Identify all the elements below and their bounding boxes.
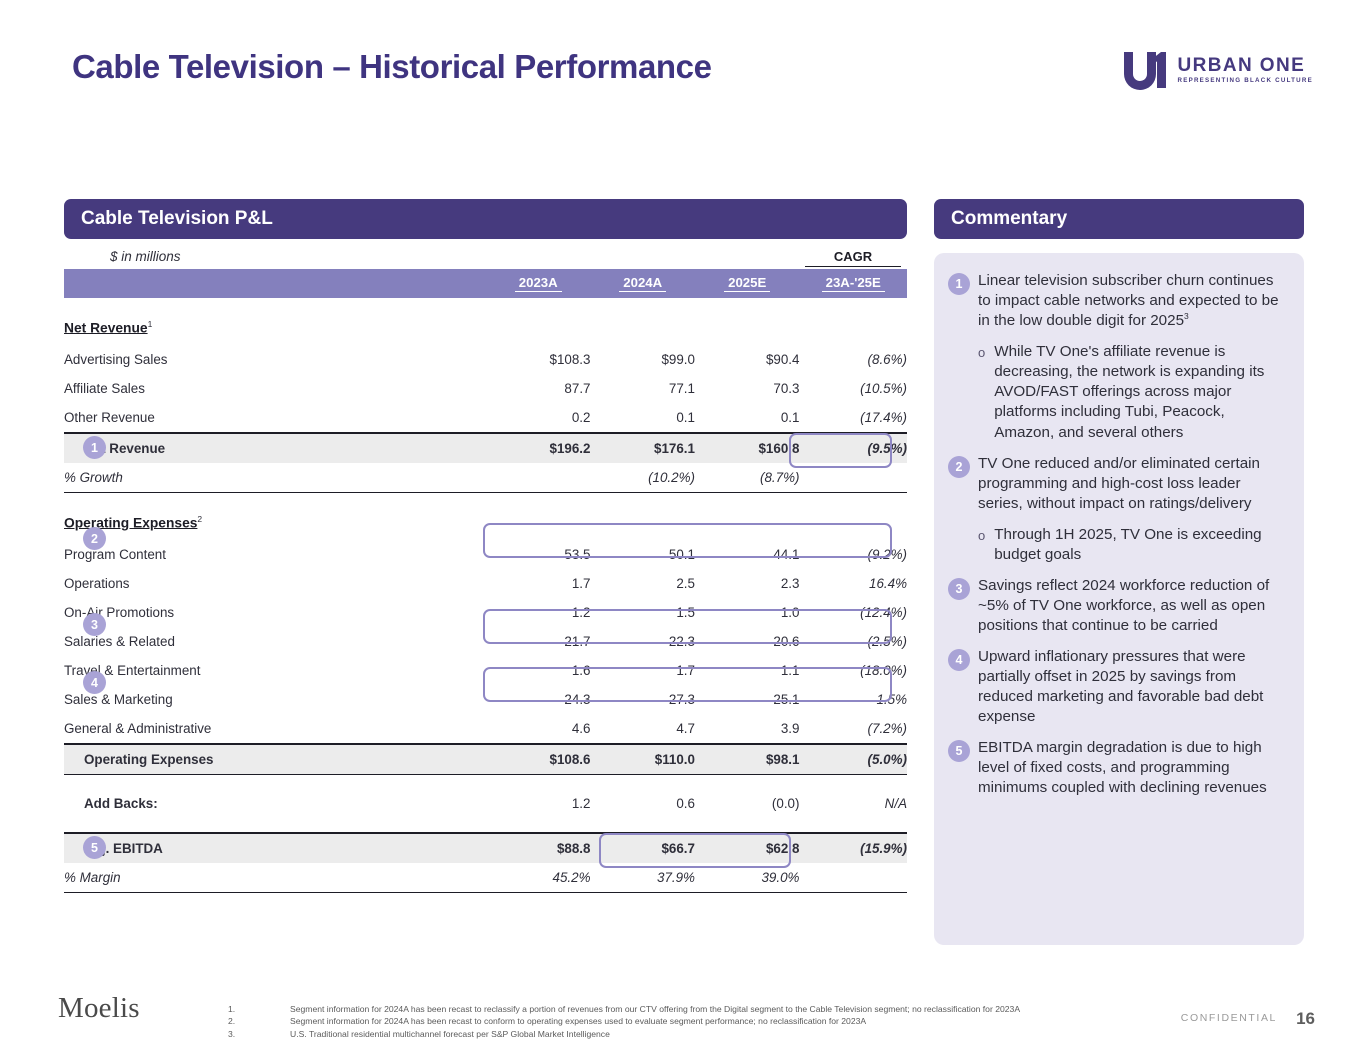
commentary-subtext-1: While TV One's affiliate revenue is decr… — [994, 342, 1287, 442]
header-cagr: 23A-'25E — [799, 269, 907, 298]
row-label-pct-margin: % Margin — [64, 863, 486, 893]
cell-ebitda-2023: $88.8 — [486, 833, 590, 863]
cell-ga-cagr: (7.2%) — [799, 714, 907, 744]
row-label-affiliate-sales: Affiliate Sales — [64, 374, 486, 403]
header-2024a: 2024A — [590, 269, 694, 298]
bullet-circle-icon: o — [978, 345, 985, 442]
cell-operations-2024: 2.5 — [590, 569, 694, 598]
cell-onair-2025: 1.0 — [695, 598, 799, 627]
cell-salesmkt-2025: 25.1 — [695, 685, 799, 714]
table-row-add-backs: Add Backs: 1.2 0.6 (0.0) N/A — [64, 789, 907, 818]
cell-program-2023: 53.5 — [486, 540, 590, 569]
table-row: Operations 1.7 2.5 2.3 16.4% — [64, 569, 907, 598]
table-row: Affiliate Sales 87.7 77.1 70.3 (10.5%) — [64, 374, 907, 403]
row-label-general-administrative: General & Administrative — [64, 714, 486, 744]
cell-growth-2023 — [486, 463, 590, 493]
cell-affiliate-2025: 70.3 — [695, 374, 799, 403]
commentary-badge-1: 1 — [948, 273, 970, 295]
cell-salesmkt-cagr: 1.5% — [799, 685, 907, 714]
cell-affiliate-2024: 77.1 — [590, 374, 694, 403]
cell-opex-2024: $110.0 — [590, 744, 694, 775]
commentary-item-5: 5 EBITDA margin degradation is due to hi… — [948, 738, 1287, 798]
cell-opex-2023: $108.6 — [486, 744, 590, 775]
cell-salesmkt-2024: 27.3 — [590, 685, 694, 714]
commentary-text-4: Upward inflationary pressures that were … — [978, 647, 1287, 727]
table-row: Other Revenue 0.2 0.1 0.1 (17.4%) — [64, 403, 907, 433]
row-label-operations: Operations — [64, 569, 486, 598]
confidential-label: CONFIDENTIAL — [1181, 1012, 1277, 1024]
callout-badge-5: 5 — [83, 836, 106, 859]
callout-badge-3: 3 — [83, 613, 106, 636]
table-row: Sales & Marketing 24.3 27.3 25.1 1.5% — [64, 685, 907, 714]
footnote-number-1: 1. — [228, 1004, 290, 1015]
row-label-advertising-sales: Advertising Sales — [64, 345, 486, 374]
cell-ebitda-2025: $62.8 — [695, 833, 799, 863]
cell-onair-2024: 1.5 — [590, 598, 694, 627]
footnote-number-3: 3. — [228, 1029, 290, 1040]
cell-margin-cagr — [799, 863, 907, 893]
footnote-row: 2. Segment information for 2024A has bee… — [228, 1016, 1108, 1027]
table-row-pct-margin: % Margin 45.2% 37.9% 39.0% — [64, 863, 907, 893]
units-label: $ in millions — [64, 249, 907, 264]
commentary-subtext-2: Through 1H 2025, TV One is exceeding bud… — [994, 525, 1287, 565]
cell-other-2023: 0.2 — [486, 403, 590, 433]
pl-table: 2023A 2024A 2025E 23A-'25E Net Revenue1 … — [64, 269, 907, 893]
footnote-row: 1. Segment information for 2024A has bee… — [228, 1004, 1108, 1015]
cell-salaries-2023: 21.7 — [486, 627, 590, 656]
commentary-badge-4: 4 — [948, 649, 970, 671]
row-label-salaries-related: Salaries & Related — [64, 627, 486, 656]
moelis-wordmark: Moelis — [58, 992, 140, 1025]
footnote-text-3: U.S. Traditional residential multichanne… — [290, 1029, 610, 1040]
callout-badge-4: 4 — [83, 671, 106, 694]
row-label-add-backs: Add Backs: — [64, 789, 486, 818]
slide-canvas: Cable Television – Historical Performanc… — [0, 0, 1365, 1055]
cell-program-2024: 50.1 — [590, 540, 694, 569]
cell-advertising-cagr: (8.6%) — [799, 345, 907, 374]
row-label-net-revenue-total: Net Revenue — [64, 433, 486, 463]
commentary-panel: 1 Linear television subscriber churn con… — [934, 253, 1304, 945]
commentary-subitem-1: o While TV One's affiliate revenue is de… — [978, 342, 1287, 442]
logo-name: URBAN ONE — [1177, 56, 1313, 75]
commentary-body-1: Linear television subscriber churn conti… — [978, 272, 1279, 329]
table-row: General & Administrative 4.6 4.7 3.9 (7.… — [64, 714, 907, 744]
cell-travel-2023: 1.6 — [486, 656, 590, 685]
cell-addbacks-2024: 0.6 — [590, 789, 694, 818]
cell-netrev-2024: $176.1 — [590, 433, 694, 463]
callout-badge-1: 1 — [83, 436, 106, 459]
table-row-total-operating-expenses: Operating Expenses $108.6 $110.0 $98.1 (… — [64, 744, 907, 775]
table-row: Advertising Sales $108.3 $99.0 $90.4 (8.… — [64, 345, 907, 374]
row-label-pct-growth: % Growth — [64, 463, 486, 493]
cell-margin-2024: 37.9% — [590, 863, 694, 893]
cell-advertising-2023: $108.3 — [486, 345, 590, 374]
row-label-on-air-promotions: On-Air Promotions — [64, 598, 486, 627]
table-header-row: 2023A 2024A 2025E 23A-'25E — [64, 269, 907, 298]
cell-program-cagr: (9.2%) — [799, 540, 907, 569]
cell-program-2025: 44.1 — [695, 540, 799, 569]
commentary-text-5: EBITDA margin degradation is due to high… — [978, 738, 1287, 798]
cell-operations-2023: 1.7 — [486, 569, 590, 598]
cell-addbacks-2025: (0.0) — [695, 789, 799, 818]
cell-ga-2023: 4.6 — [486, 714, 590, 744]
spacer-row — [64, 818, 907, 833]
header-2025e: 2025E — [695, 269, 799, 298]
header-2023a: 2023A — [486, 269, 590, 298]
commentary-item-1: 1 Linear television subscriber churn con… — [948, 271, 1287, 331]
cell-salaries-2025: 20.6 — [695, 627, 799, 656]
cell-netrev-2023: $196.2 — [486, 433, 590, 463]
bullet-circle-icon: o — [978, 528, 985, 565]
commentary-item-3: 3 Savings reflect 2024 workforce reducti… — [948, 576, 1287, 636]
commentary-subitem-2: o Through 1H 2025, TV One is exceeding b… — [978, 525, 1287, 565]
cell-travel-2024: 1.7 — [590, 656, 694, 685]
cell-affiliate-2023: 87.7 — [486, 374, 590, 403]
table-row: Travel & Entertainment 1.6 1.7 1.1 (18.0… — [64, 656, 907, 685]
commentary-badge-2: 2 — [948, 456, 970, 478]
cell-ga-2025: 3.9 — [695, 714, 799, 744]
footnote-ref-3: 3 — [1184, 311, 1189, 321]
row-label-sales-marketing: Sales & Marketing — [64, 685, 486, 714]
section-title-operating-expenses: Operating Expenses — [64, 515, 197, 530]
footnote-text-1: Segment information for 2024A has been r… — [290, 1004, 1020, 1015]
commentary-item-4: 4 Upward inflationary pressures that wer… — [948, 647, 1287, 727]
commentary-text-2: TV One reduced and/or eliminated certain… — [978, 454, 1287, 514]
cell-netrev-cagr: (9.5%) — [799, 433, 907, 463]
pl-panel-header: Cable Television P&L — [64, 199, 907, 239]
footnote-ref-2: 2 — [197, 514, 202, 524]
commentary-badge-3: 3 — [948, 578, 970, 600]
cell-opex-cagr: (5.0%) — [799, 744, 907, 775]
cell-ga-2024: 4.7 — [590, 714, 694, 744]
cell-advertising-2024: $99.0 — [590, 345, 694, 374]
row-label-other-revenue: Other Revenue — [64, 403, 486, 433]
callout-badge-2: 2 — [83, 527, 106, 550]
cell-ebitda-2024: $66.7 — [590, 833, 694, 863]
section-title-net-revenue: Net Revenue — [64, 320, 148, 335]
urban-one-logo: URBAN ONE REPRESENTING BLACK CULTURE — [1122, 50, 1313, 90]
cell-addbacks-2023: 1.2 — [486, 789, 590, 818]
cell-opex-2025: $98.1 — [695, 744, 799, 775]
table-row-pct-growth: % Growth (10.2%) (8.7%) — [64, 463, 907, 493]
table-row-total-net-revenue: Net Revenue $196.2 $176.1 $160.8 (9.5%) — [64, 433, 907, 463]
section-net-revenue: Net Revenue1 — [64, 298, 907, 345]
cell-other-2025: 0.1 — [695, 403, 799, 433]
table-row: Program Content 53.5 50.1 44.1 (9.2%) — [64, 540, 907, 569]
cell-margin-2023: 45.2% — [486, 863, 590, 893]
cell-salaries-cagr: (2.5%) — [799, 627, 907, 656]
footnote-text-2: Segment information for 2024A has been r… — [290, 1016, 866, 1027]
row-label-program-content: Program Content — [64, 540, 486, 569]
logo-text: URBAN ONE REPRESENTING BLACK CULTURE — [1177, 56, 1313, 84]
table-row: Salaries & Related 21.7 22.3 20.6 (2.5%) — [64, 627, 907, 656]
cell-onair-2023: 1.2 — [486, 598, 590, 627]
cell-travel-2025: 1.1 — [695, 656, 799, 685]
logo-tagline: REPRESENTING BLACK CULTURE — [1177, 78, 1313, 84]
cell-salaries-2024: 22.3 — [590, 627, 694, 656]
cell-other-cagr: (17.4%) — [799, 403, 907, 433]
row-label-travel-entertainment: Travel & Entertainment — [64, 656, 486, 685]
footnote-number-2: 2. — [228, 1016, 290, 1027]
commentary-panel-header: Commentary — [934, 199, 1304, 239]
cell-growth-2025: (8.7%) — [695, 463, 799, 493]
cagr-group-header: CAGR — [805, 249, 901, 267]
cell-onair-cagr: (12.4%) — [799, 598, 907, 627]
cell-ebitda-cagr: (15.9%) — [799, 833, 907, 863]
cell-netrev-2025: $160.8 — [695, 433, 799, 463]
commentary-text-3: Savings reflect 2024 workforce reduction… — [978, 576, 1287, 636]
cell-operations-2025: 2.3 — [695, 569, 799, 598]
cell-advertising-2025: $90.4 — [695, 345, 799, 374]
table-row: On-Air Promotions 1.2 1.5 1.0 (12.4%) — [64, 598, 907, 627]
commentary-text-1: Linear television subscriber churn conti… — [978, 271, 1287, 331]
cell-travel-cagr: (18.0%) — [799, 656, 907, 685]
commentary-badge-5: 5 — [948, 740, 970, 762]
u1-monogram-icon — [1122, 50, 1168, 90]
section-operating-expenses: Operating Expenses2 — [64, 493, 907, 541]
cell-salesmkt-2023: 24.3 — [486, 685, 590, 714]
cell-growth-2024: (10.2%) — [590, 463, 694, 493]
page-number: 16 — [1296, 1009, 1315, 1029]
cell-addbacks-cagr: N/A — [799, 789, 907, 818]
cell-margin-2025: 39.0% — [695, 863, 799, 893]
cell-growth-cagr — [799, 463, 907, 493]
cell-other-2024: 0.1 — [590, 403, 694, 433]
table-row-adj-ebitda: Adj. EBITDA $88.8 $66.7 $62.8 (15.9%) — [64, 833, 907, 863]
cell-affiliate-cagr: (10.5%) — [799, 374, 907, 403]
cell-operations-cagr: 16.4% — [799, 569, 907, 598]
row-label-opex-total: Operating Expenses — [64, 744, 486, 775]
spacer-row — [64, 775, 907, 790]
footnote-row: 3. U.S. Traditional residential multicha… — [228, 1029, 1108, 1040]
row-label-adj-ebitda: Adj. EBITDA — [64, 833, 486, 863]
footnote-ref-1: 1 — [148, 319, 153, 329]
footnotes-block: 1. Segment information for 2024A has bee… — [228, 1004, 1108, 1041]
page-title: Cable Television – Historical Performanc… — [72, 48, 712, 86]
header-blank — [64, 269, 486, 298]
commentary-item-2: 2 TV One reduced and/or eliminated certa… — [948, 454, 1287, 514]
pl-table-container: $ in millions CAGR 2023A 2024A 2025E 23A… — [64, 249, 907, 893]
